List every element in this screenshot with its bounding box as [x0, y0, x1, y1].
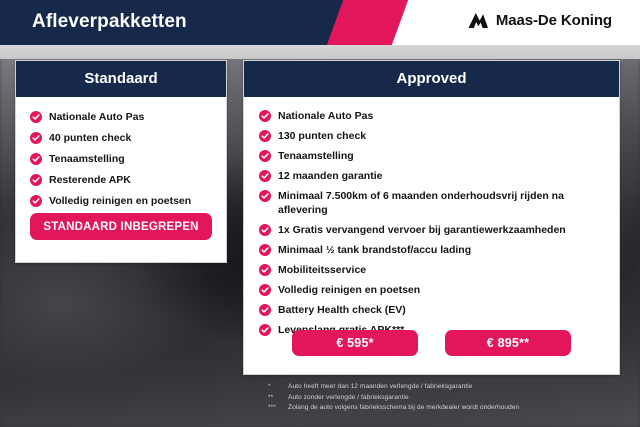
check-circle-icon [259, 130, 271, 142]
list-item: Nationale Auto Pas [259, 109, 607, 123]
feature-text: 1x Gratis vervangend vervoer bij garanti… [278, 223, 566, 237]
maas-de-koning-logo-icon [467, 12, 489, 29]
check-circle-icon [259, 284, 271, 296]
footnote-marker: * [268, 382, 282, 393]
footnote-text: Auto heeft meer dan 12 maanden verlengde… [288, 382, 472, 393]
price-button-895[interactable]: € 895** [445, 330, 571, 356]
check-circle-icon [259, 304, 271, 316]
list-item: 40 punten check [30, 131, 216, 145]
page-title: Afleverpakketten [32, 11, 187, 33]
list-item: Tenaamstelling [30, 152, 216, 166]
package-card-approved: Approved Nationale Auto Pas 130 punten c… [243, 60, 620, 375]
card-title-standaard: Standaard [16, 61, 226, 97]
footnote-text: Auto zonder verlengde / fabrieksgarantie [288, 393, 409, 404]
brand-name: Maas-De Koning [496, 12, 612, 29]
feature-text: Tenaamstelling [49, 152, 125, 166]
feature-list-standaard: Nationale Auto Pas 40 punten check Tenaa… [16, 97, 226, 208]
feature-text: Mobiliteitsservice [278, 263, 366, 277]
check-circle-icon [30, 153, 42, 165]
feature-text: 130 punten check [278, 129, 366, 143]
feature-text: Volledig reinigen en poetsen [278, 283, 420, 297]
package-card-standaard: Standaard Nationale Auto Pas 40 punten c… [15, 60, 227, 263]
feature-text: Tenaamstelling [278, 149, 354, 163]
check-circle-icon [30, 195, 42, 207]
list-item: Battery Health check (EV) [259, 303, 607, 317]
footnote-2: ** Auto zonder verlengde / fabrieksgaran… [268, 393, 628, 404]
footnote-marker: *** [268, 403, 282, 414]
list-item: Nationale Auto Pas [30, 110, 216, 124]
list-item: Minimaal 7.500km of 6 maanden onderhouds… [259, 189, 607, 217]
check-circle-icon [30, 111, 42, 123]
footnote-1: * Auto heeft meer dan 12 maanden verleng… [268, 382, 628, 393]
feature-list-approved: Nationale Auto Pas 130 punten check Tena… [244, 97, 619, 337]
check-circle-icon [259, 190, 271, 202]
check-circle-icon [259, 264, 271, 276]
promo-graphic: Afleverpakketten Maas-De Koning Standaar… [0, 0, 640, 427]
check-circle-icon [259, 110, 271, 122]
standaard-inbegrepen-button[interactable]: STANDAARD INBEGREPEN [30, 213, 212, 240]
footnotes: * Auto heeft meer dan 12 maanden verleng… [268, 382, 628, 414]
feature-text: Minimaal ½ tank brandstof/accu lading [278, 243, 471, 257]
list-item: Tenaamstelling [259, 149, 607, 163]
check-circle-icon [259, 170, 271, 182]
check-circle-icon [30, 132, 42, 144]
list-item: Volledig reinigen en poetsen [259, 283, 607, 297]
list-item: Minimaal ½ tank brandstof/accu lading [259, 243, 607, 257]
feature-text: 12 maanden garantie [278, 169, 382, 183]
footnote-marker: ** [268, 393, 282, 404]
feature-text: Battery Health check (EV) [278, 303, 406, 317]
list-item: Mobiliteitsservice [259, 263, 607, 277]
check-circle-icon [259, 150, 271, 162]
check-circle-icon [259, 244, 271, 256]
header-bar: Afleverpakketten Maas-De Koning [0, 0, 640, 45]
card-title-approved: Approved [244, 61, 619, 97]
feature-text: Volledig reinigen en poetsen [49, 194, 191, 208]
price-button-row: € 595* € 895** [244, 330, 619, 356]
header-underline-strip [0, 45, 640, 59]
list-item: Volledig reinigen en poetsen [30, 194, 216, 208]
check-circle-icon [30, 174, 42, 186]
check-circle-icon [259, 224, 271, 236]
list-item: 1x Gratis vervangend vervoer bij garanti… [259, 223, 607, 237]
brand-lockup: Maas-De Koning [467, 12, 612, 29]
list-item: 12 maanden garantie [259, 169, 607, 183]
feature-text: Nationale Auto Pas [278, 109, 373, 123]
footnote-3: *** Zolang de auto volgens fabrieksschem… [268, 403, 628, 414]
list-item: 130 punten check [259, 129, 607, 143]
footnote-text: Zolang de auto volgens fabrieksschema bi… [288, 403, 519, 414]
feature-text: Nationale Auto Pas [49, 110, 144, 124]
feature-text: Resterende APK [49, 173, 131, 187]
list-item: Resterende APK [30, 173, 216, 187]
price-button-595[interactable]: € 595* [292, 330, 418, 356]
feature-text: 40 punten check [49, 131, 131, 145]
feature-text: Minimaal 7.500km of 6 maanden onderhouds… [278, 189, 607, 217]
